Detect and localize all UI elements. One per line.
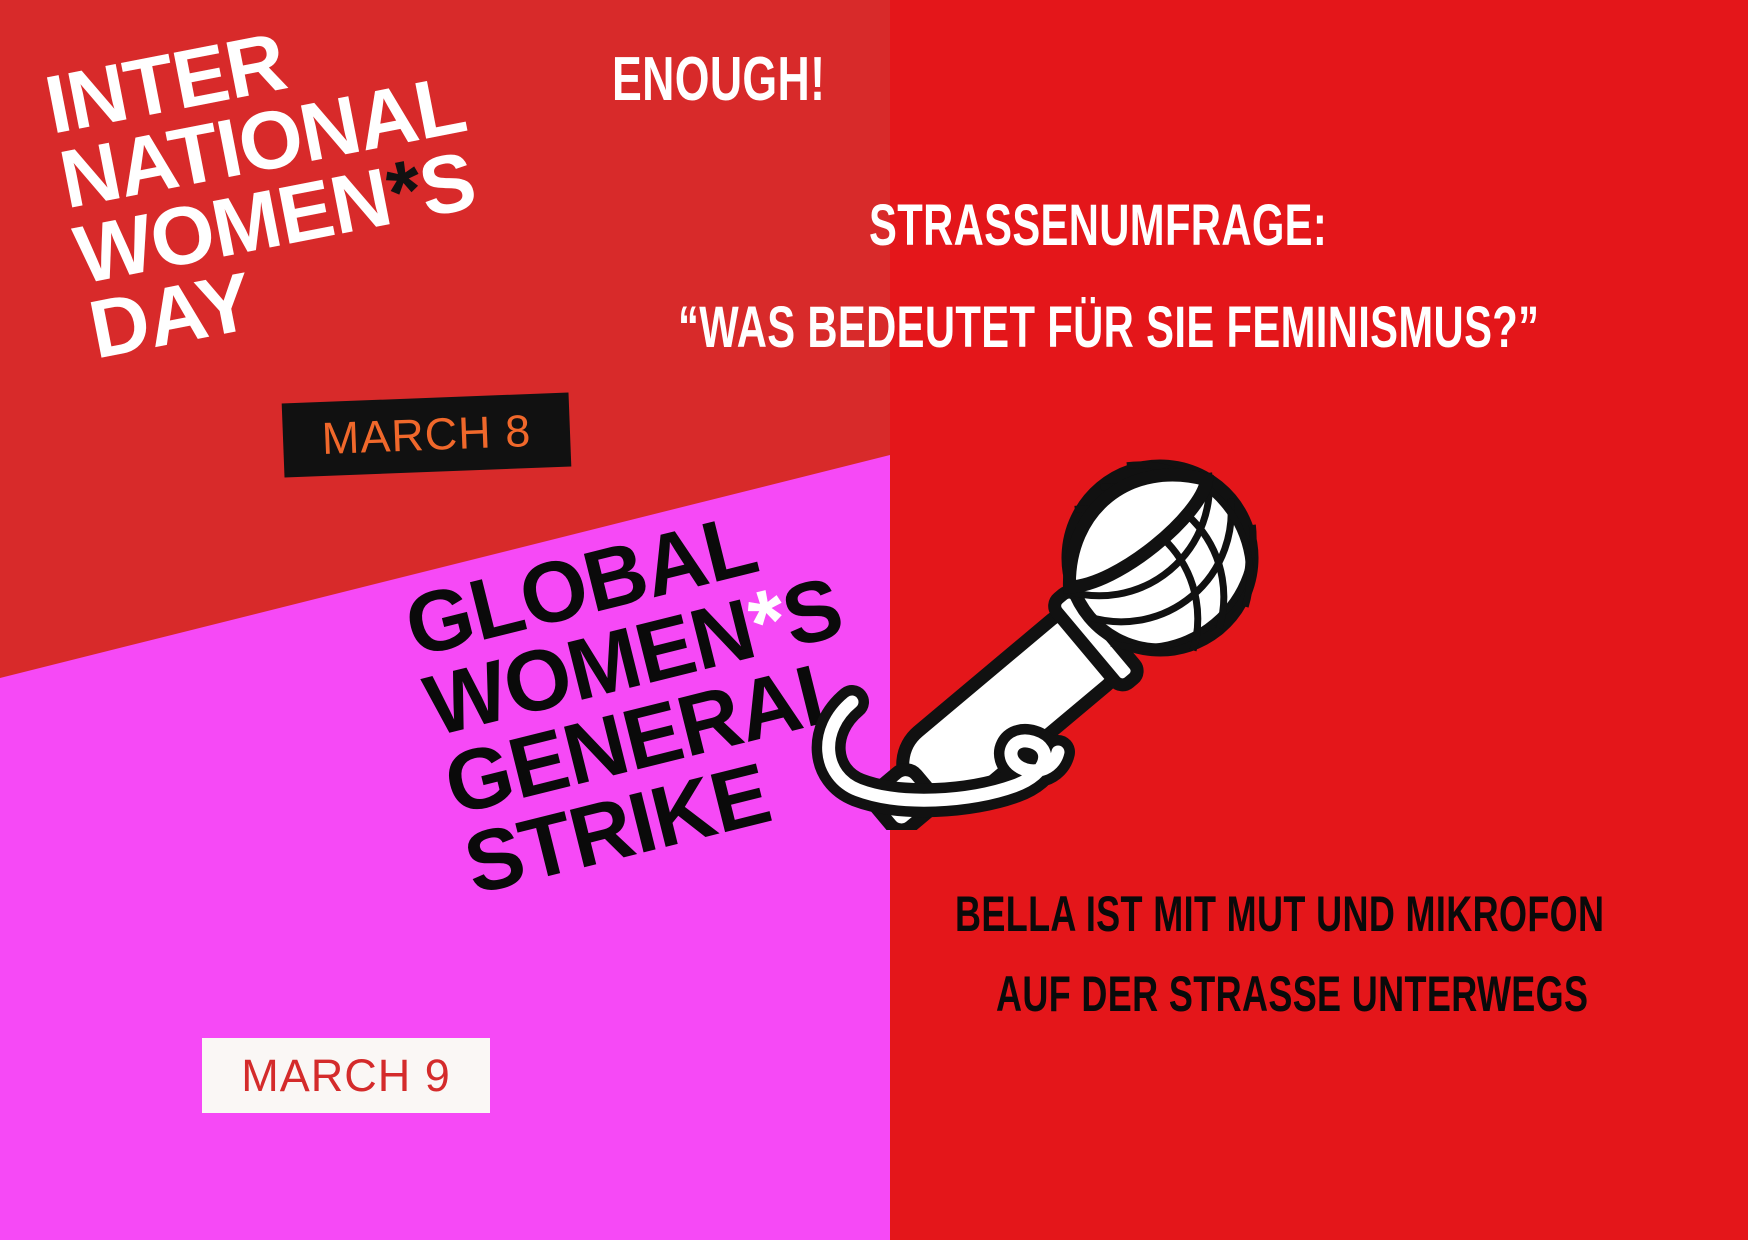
date-badge-march-8: MARCH 8 [282, 393, 572, 478]
microphone-body-group [848, 430, 1289, 830]
survey-label: STRASSENUMFRAGE: [869, 192, 1327, 259]
caption-line-2: AUF DER STRASSE UNTERWEGS [996, 965, 1588, 1023]
survey-question: “WAS BEDEUTET FÜR SIE FEMINISMUS?” [678, 294, 1539, 361]
poster-canvas: INTER NATIONAL WOMEN*S DAY MARCH 8 GLOBA… [0, 0, 1748, 1240]
caption-line-1: BELLA IST MIT MUT UND MIKROFON [955, 885, 1604, 943]
microphone-illustration [800, 430, 1300, 830]
date-badge-march-9: MARCH 9 [202, 1038, 490, 1113]
date-badge-march-9-label: MARCH 9 [241, 1050, 451, 1102]
date-badge-march-8-label: MARCH 8 [321, 405, 532, 465]
enough-headline: ENOUGH! [612, 44, 825, 115]
